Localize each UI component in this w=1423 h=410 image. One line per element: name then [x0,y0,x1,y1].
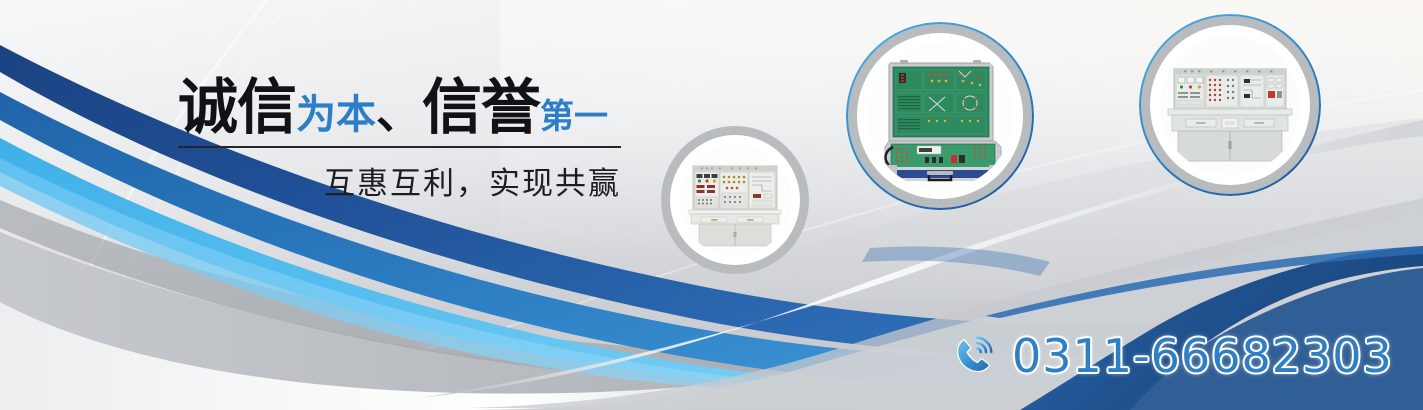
product-circle-2[interactable] [846,22,1034,210]
headline-part-4: 信誉 [422,74,540,141]
trainer-case-illustration [867,43,1013,189]
circle-1-photo [679,144,791,256]
headline: 诚信为本、信誉第一 [178,72,638,144]
headline-part-1: 诚信 [178,74,296,141]
contact-phone-block[interactable]: 0311-66682303 [952,325,1393,387]
headline-part-2-accent: 为本 [296,93,376,137]
control-bench-illustration [1160,35,1300,175]
workbench-illustration [679,144,791,256]
phone-call-icon[interactable] [952,333,998,379]
product-circle-3[interactable] [1139,14,1321,196]
headline-part-5-accent: 第一 [540,98,608,136]
subtitle: 互惠互利，实现共赢 [178,158,621,203]
product-circle-1[interactable] [662,127,808,273]
circle-2-photo [867,43,1013,189]
headline-punctuation: 、 [376,86,422,138]
circle-3-photo [1160,35,1300,175]
promotional-banner: 诚信为本、信誉第一 互惠互利，实现共赢 [0,0,1423,410]
phone-number[interactable]: 0311-66682303 [1012,329,1393,383]
headline-divider [178,146,621,148]
